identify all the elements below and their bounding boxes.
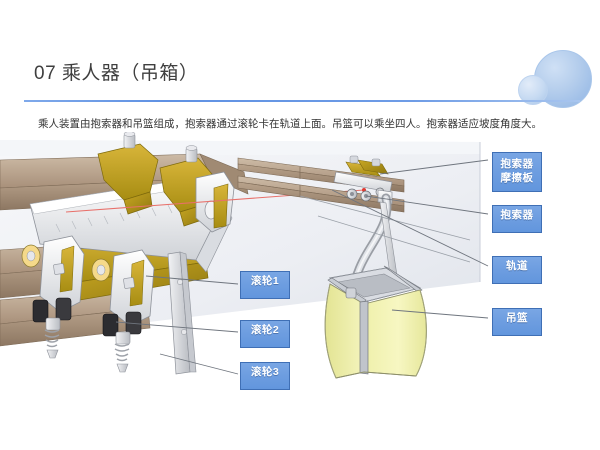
- callout-track[interactable]: 轨道: [492, 256, 542, 284]
- page-title: 07 乘人器（吊箱）: [34, 58, 198, 85]
- callout-line-1: 滚轮1: [241, 275, 289, 288]
- callout-line-1: 滚轮3: [241, 366, 289, 379]
- callout-line-2: 摩擦板: [493, 171, 541, 185]
- slide-root: 07 乘人器（吊箱） 乘人装置由抱索器和吊篮组成，抱索器通过滚轮卡在轨道上面。吊…: [0, 0, 600, 450]
- callout-line-1: 抱索器: [493, 209, 541, 222]
- callout-line-1: 抱索器: [493, 157, 541, 171]
- callout-roller-2[interactable]: 滚轮2: [240, 320, 290, 348]
- callout-line-1: 吊篮: [493, 312, 541, 325]
- callout-line-1: 轨道: [493, 260, 541, 273]
- callout-roller-3[interactable]: 滚轮3: [240, 362, 290, 390]
- callout-cabin[interactable]: 吊篮: [492, 308, 542, 336]
- callout-line-1: 滚轮2: [241, 324, 289, 337]
- leader-roller-3: [160, 354, 238, 374]
- title-divider: [24, 100, 580, 102]
- decorative-circles: [520, 42, 600, 108]
- cabin: [325, 266, 426, 378]
- callout-roller-1[interactable]: 滚轮1: [240, 271, 290, 299]
- left-rail-assembly: [0, 132, 248, 374]
- callout-grip-friction-plate[interactable]: 抱索器 摩擦板: [492, 152, 542, 192]
- subtitle-text: 乘人装置由抱索器和吊篮组成，抱索器通过滚轮卡在轨道上面。吊篮可以乘坐四人。抱索器…: [38, 117, 568, 132]
- callout-grip[interactable]: 抱索器: [492, 205, 542, 233]
